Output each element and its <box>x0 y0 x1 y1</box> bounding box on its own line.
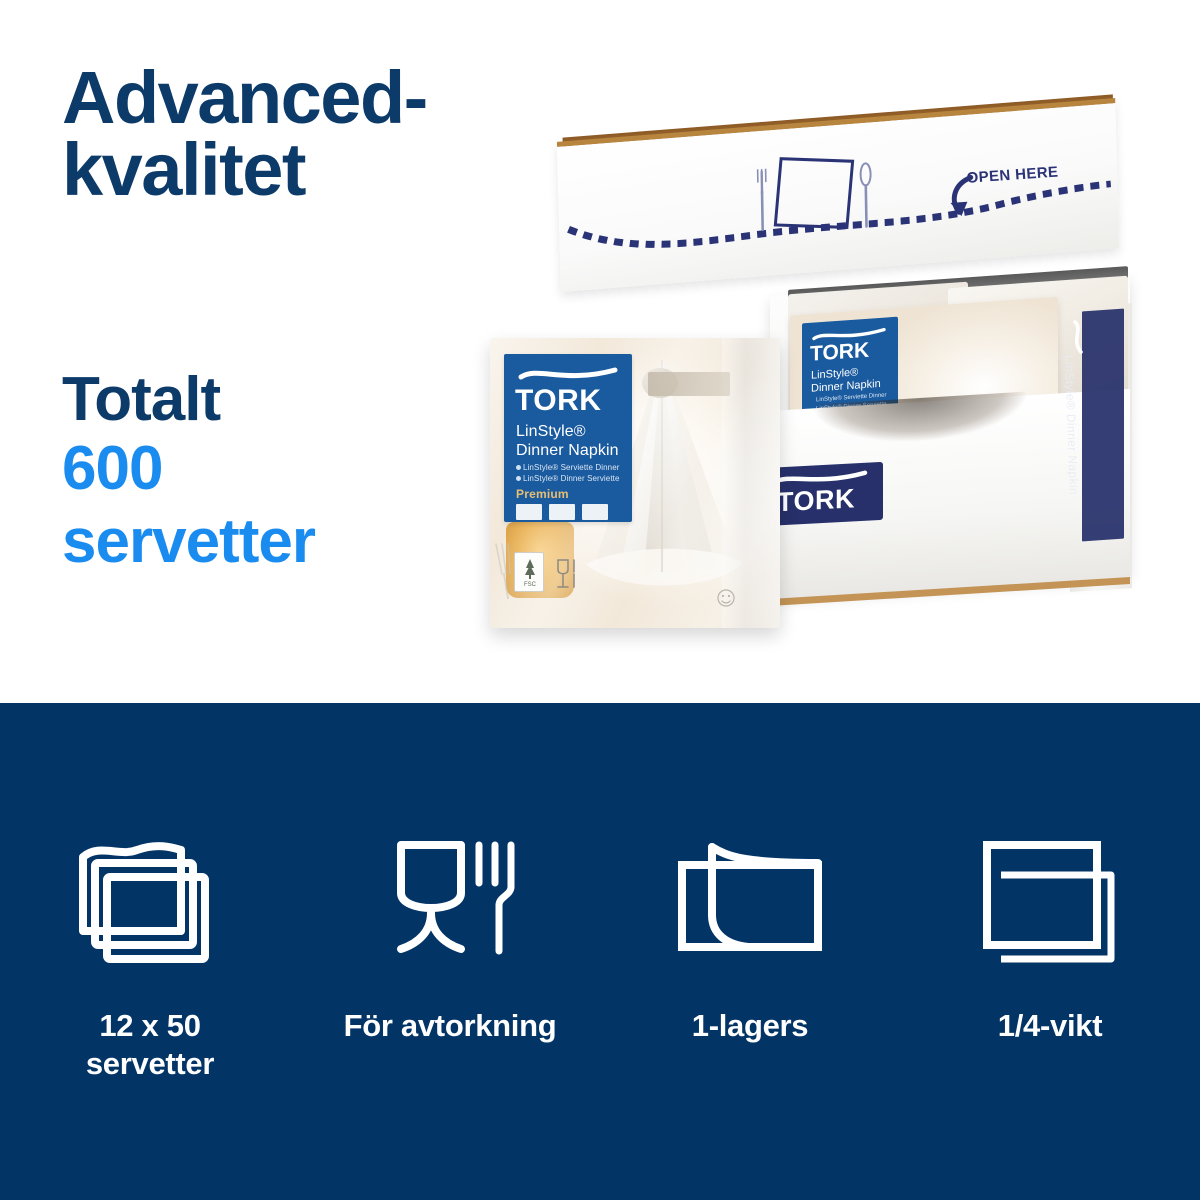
hero-pack-line1: LinStyle® <box>516 423 586 441</box>
spec-caption-size: 39x39cm <box>549 521 565 522</box>
page-title: Advanced- kvalitet <box>62 62 427 206</box>
spec-caption-sheets: 50 Sheets <box>516 521 534 522</box>
napkin-stack-icon <box>75 831 225 971</box>
feature-food-contact: För avtorkning <box>300 703 600 1045</box>
feature-label-fold: 1/4-vikt <box>998 1007 1102 1045</box>
total-count-unit: servetter <box>62 505 315 579</box>
soft-feel-badge <box>648 372 730 396</box>
hero-pack-bullet-2: LinStyle® Dinner Serviette <box>523 474 620 483</box>
quarter-fold-icon <box>975 831 1125 971</box>
napkin-cutlery-graphic-icon <box>739 141 890 248</box>
feature-bar: 12 x 50 servetter För avtorkning <box>0 703 1200 1200</box>
feature-row: 12 x 50 servetter För avtorkning <box>0 703 1200 1200</box>
hero-pack-line2: Dinner Napkin <box>516 442 619 460</box>
glass-and-fork-icon <box>375 831 525 971</box>
feature-ply: 1-lagers <box>600 703 900 1045</box>
fsc-tree-icon: FSC <box>515 553 545 593</box>
hero-pack-spec-row: 50 Sheets 39x39cm 1/4 Folded <box>516 504 608 520</box>
carton-brand-text: TORK <box>777 483 855 518</box>
hero-pack-brand: TORK <box>515 384 601 418</box>
feature-label-pack-count: 12 x 50 servetter <box>86 1007 214 1083</box>
tork-wave-icon <box>1068 320 1086 354</box>
total-count-value: 600 <box>62 432 315 505</box>
carton-brand-logo: TORK <box>763 462 883 526</box>
single-ply-icon <box>670 831 830 971</box>
feature-fold: 1/4-vikt <box>900 703 1200 1045</box>
food-contact-glass-fork-icon <box>554 556 580 594</box>
spec-box-fold-icon <box>582 504 608 520</box>
total-label: Totalt <box>62 368 315 432</box>
hero-pack-tier: Premium <box>516 487 569 501</box>
tork-wave-icon <box>516 364 620 386</box>
product-marketing-page: Advanced- kvalitet Totalt 600 servetter <box>0 0 1200 1200</box>
spec-box-size-icon <box>549 504 575 520</box>
spec-item-size: 39x39cm <box>549 504 575 520</box>
spec-box-sheets-icon <box>516 504 542 520</box>
hero-pack-label: TORK LinStyle® Dinner Napkin LinStyle® S… <box>504 354 632 522</box>
hero-pack-bullet-1: LinStyle® Serviette Dinner <box>523 463 620 472</box>
hero-pack-bullet-marker-2 <box>516 476 521 481</box>
pack-brand: TORK <box>810 339 869 367</box>
svg-text:FSC: FSC <box>524 582 537 588</box>
spec-item-sheets: 50 Sheets <box>516 504 542 520</box>
feature-label-ply: 1-lagers <box>692 1007 809 1045</box>
smiley-icon <box>716 588 736 608</box>
feature-pack-count: 12 x 50 servetter <box>0 703 300 1083</box>
product-photo: TORK LinStyle® Dinner Napkin LinStyle® S… <box>470 110 1130 650</box>
spec-item-fold: 1/4 Folded <box>582 504 608 520</box>
fsc-certification-badge: FSC <box>514 552 544 592</box>
total-count-block: Totalt 600 servetter <box>62 368 315 579</box>
spec-caption-fold: 1/4 Folded <box>582 521 601 522</box>
feature-label-food-contact: För avtorkning <box>344 1007 557 1045</box>
hero-section: Advanced- kvalitet Totalt 600 servetter <box>0 0 1200 703</box>
carton-side-navy-panel <box>1082 309 1124 542</box>
open-here-label: OPEN HERE <box>966 162 1080 230</box>
hero-pack-bullet-marker-1 <box>516 465 521 470</box>
